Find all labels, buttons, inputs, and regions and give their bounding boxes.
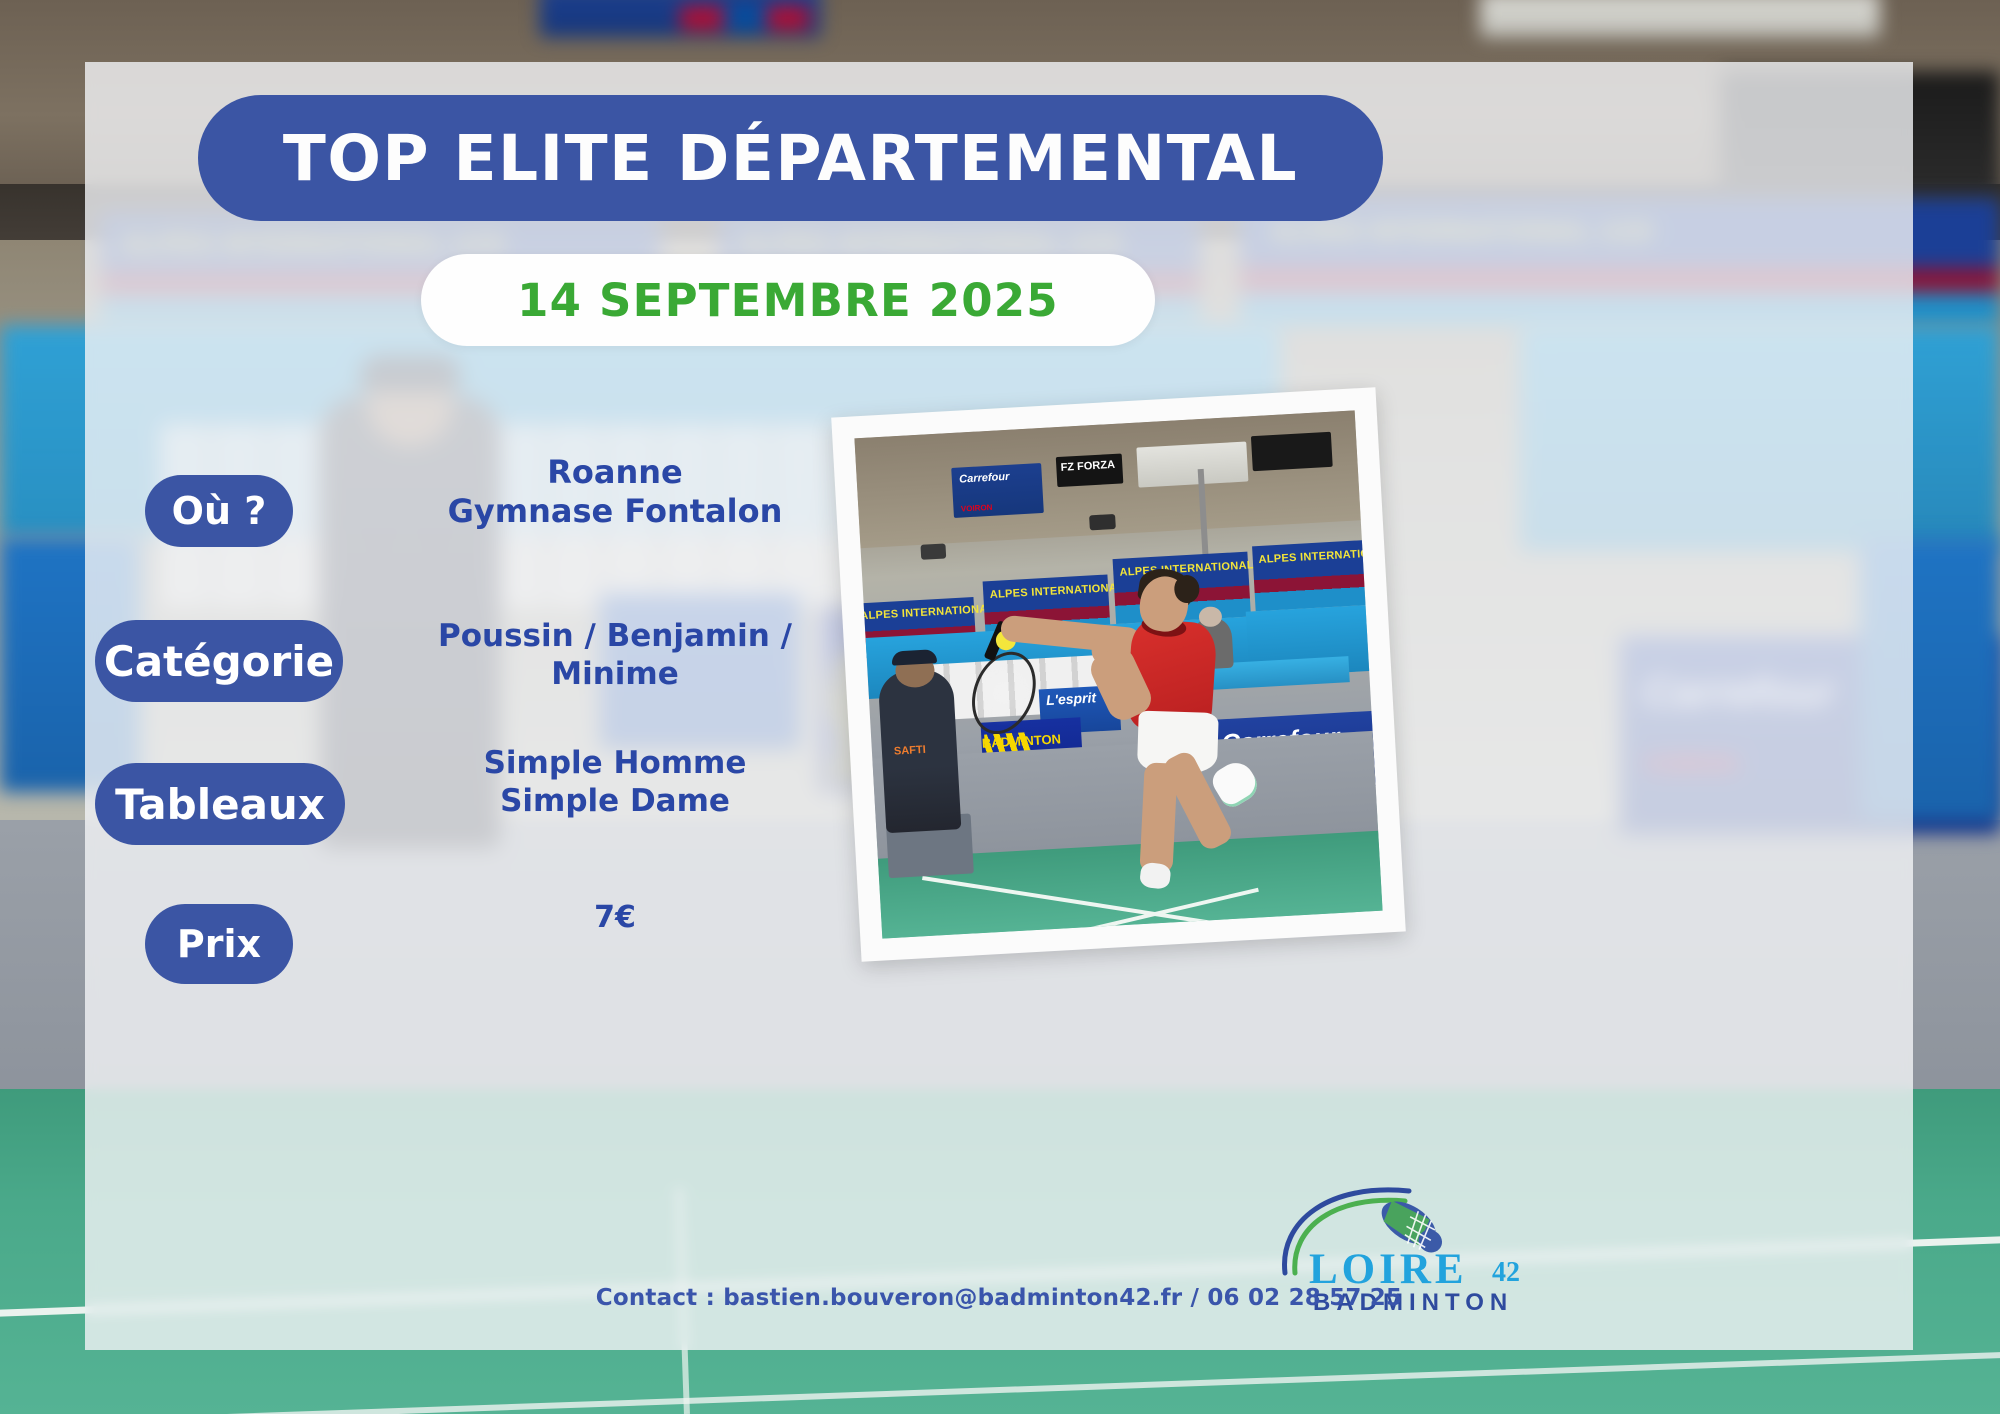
info-row-category: Catégorie Poussin / Benjamin /Minime bbox=[85, 602, 885, 747]
photo-fzforza-text: FZ FORZA bbox=[1060, 459, 1115, 474]
value-price: 7€ bbox=[385, 900, 845, 937]
photo-banner-alpes: ALPES INTERNATIONAL U19 bbox=[1252, 540, 1376, 612]
info-row-where: Où ? RoanneGymnase Fontalon bbox=[85, 457, 885, 602]
label-category: Catégorie bbox=[104, 637, 334, 686]
label-where: Où ? bbox=[172, 489, 267, 533]
bg-banner-carrefour bbox=[540, 0, 820, 37]
photo-alpes-text: ALPES INTERNATIONAL U19 bbox=[1258, 545, 1382, 566]
label-pill-tables: Tableaux bbox=[95, 763, 345, 845]
label-price: Prix bbox=[177, 922, 261, 966]
label-pill-category: Catégorie bbox=[95, 620, 343, 702]
page-title: TOP ELITE DÉPARTEMENTAL bbox=[283, 122, 1298, 195]
bg-banner-grey bbox=[1480, 0, 1880, 37]
label-pill-where: Où ? bbox=[145, 475, 293, 547]
info-row-tables: Tableaux Simple HommeSimple Dame bbox=[85, 747, 885, 892]
value-tables: Simple HommeSimple Dame bbox=[385, 745, 845, 821]
info-list: Où ? RoanneGymnase Fontalon Catégorie Po… bbox=[85, 457, 885, 1037]
value-where: RoanneGymnase Fontalon bbox=[385, 453, 845, 531]
photo-frame: Carrefour VOIRON FZ FORZA ALPES INTERNAT… bbox=[831, 387, 1406, 962]
label-pill-price: Prix bbox=[145, 904, 293, 984]
photo-esprit-text: L'esprit bbox=[1046, 689, 1097, 708]
value-category: Poussin / Benjamin /Minime bbox=[385, 618, 845, 694]
photo-camera-icon bbox=[1090, 514, 1116, 530]
photo-banner-black bbox=[1251, 432, 1333, 471]
photo-camera-icon bbox=[921, 544, 947, 560]
info-row-price: Prix 7€ bbox=[85, 892, 885, 1037]
photo-banner-fzforza: FZ FORZA bbox=[1056, 454, 1123, 488]
badminton-player-photo: Carrefour VOIRON FZ FORZA ALPES INTERNAT… bbox=[854, 410, 1382, 938]
label-tables: Tableaux bbox=[115, 780, 325, 829]
photo-referee: SAFTI bbox=[878, 669, 962, 833]
title-banner: TOP ELITE DÉPARTEMENTAL bbox=[198, 95, 1383, 221]
photo-banner-carrefour: Carrefour VOIRON bbox=[951, 463, 1044, 518]
photo-carrefour-sub: VOIRON bbox=[961, 503, 993, 514]
event-date: 14 SEPTEMBRE 2025 bbox=[517, 274, 1059, 327]
contact-line: Contact : bastien.bouveron@badminton42.f… bbox=[85, 1285, 1913, 1311]
poster-card: TOP ELITE DÉPARTEMENTAL 14 SEPTEMBRE 202… bbox=[85, 62, 1913, 1350]
photo-banner-grey bbox=[1136, 442, 1248, 488]
photo-carrefour-text: Carrefour bbox=[959, 471, 1010, 486]
date-banner: 14 SEPTEMBRE 2025 bbox=[421, 254, 1155, 346]
